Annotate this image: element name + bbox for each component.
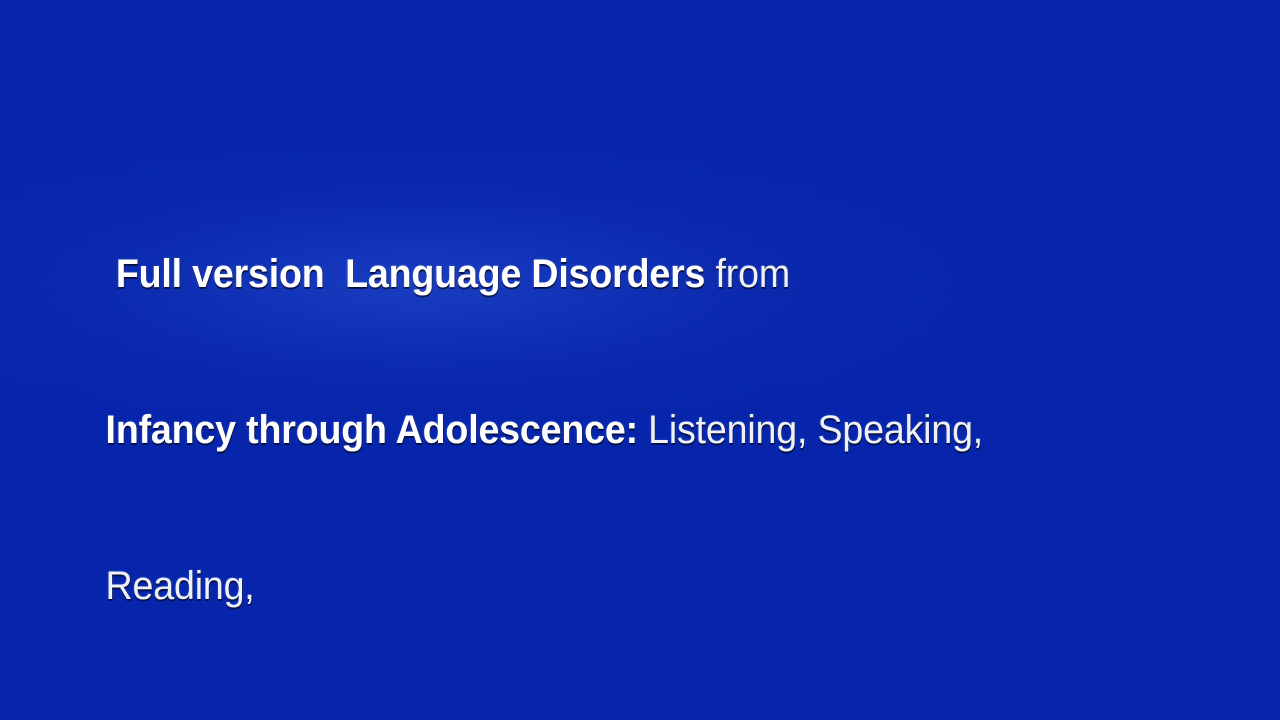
title-line-2-segment-heavy: Infancy through Adolescence: [106,408,649,452]
title-text-block: Full version Language Disorders from Inf… [44,196,1254,664]
title-line-3: Reading, [44,508,1181,664]
title-line-3-segment-light: Reading, [106,564,255,608]
title-line-2-segment-light: Listening, Speaking, [648,408,983,452]
title-line-1-segment-heavy: Full version Language Disorders [106,252,716,296]
title-line-1-segment-light: from [716,252,790,296]
title-line-1: Full version Language Disorders from [44,196,1181,352]
title-line-2: Infancy through Adolescence: Listening, … [44,352,1181,508]
video-title-card: Full version Language Disorders from Inf… [0,0,1280,720]
